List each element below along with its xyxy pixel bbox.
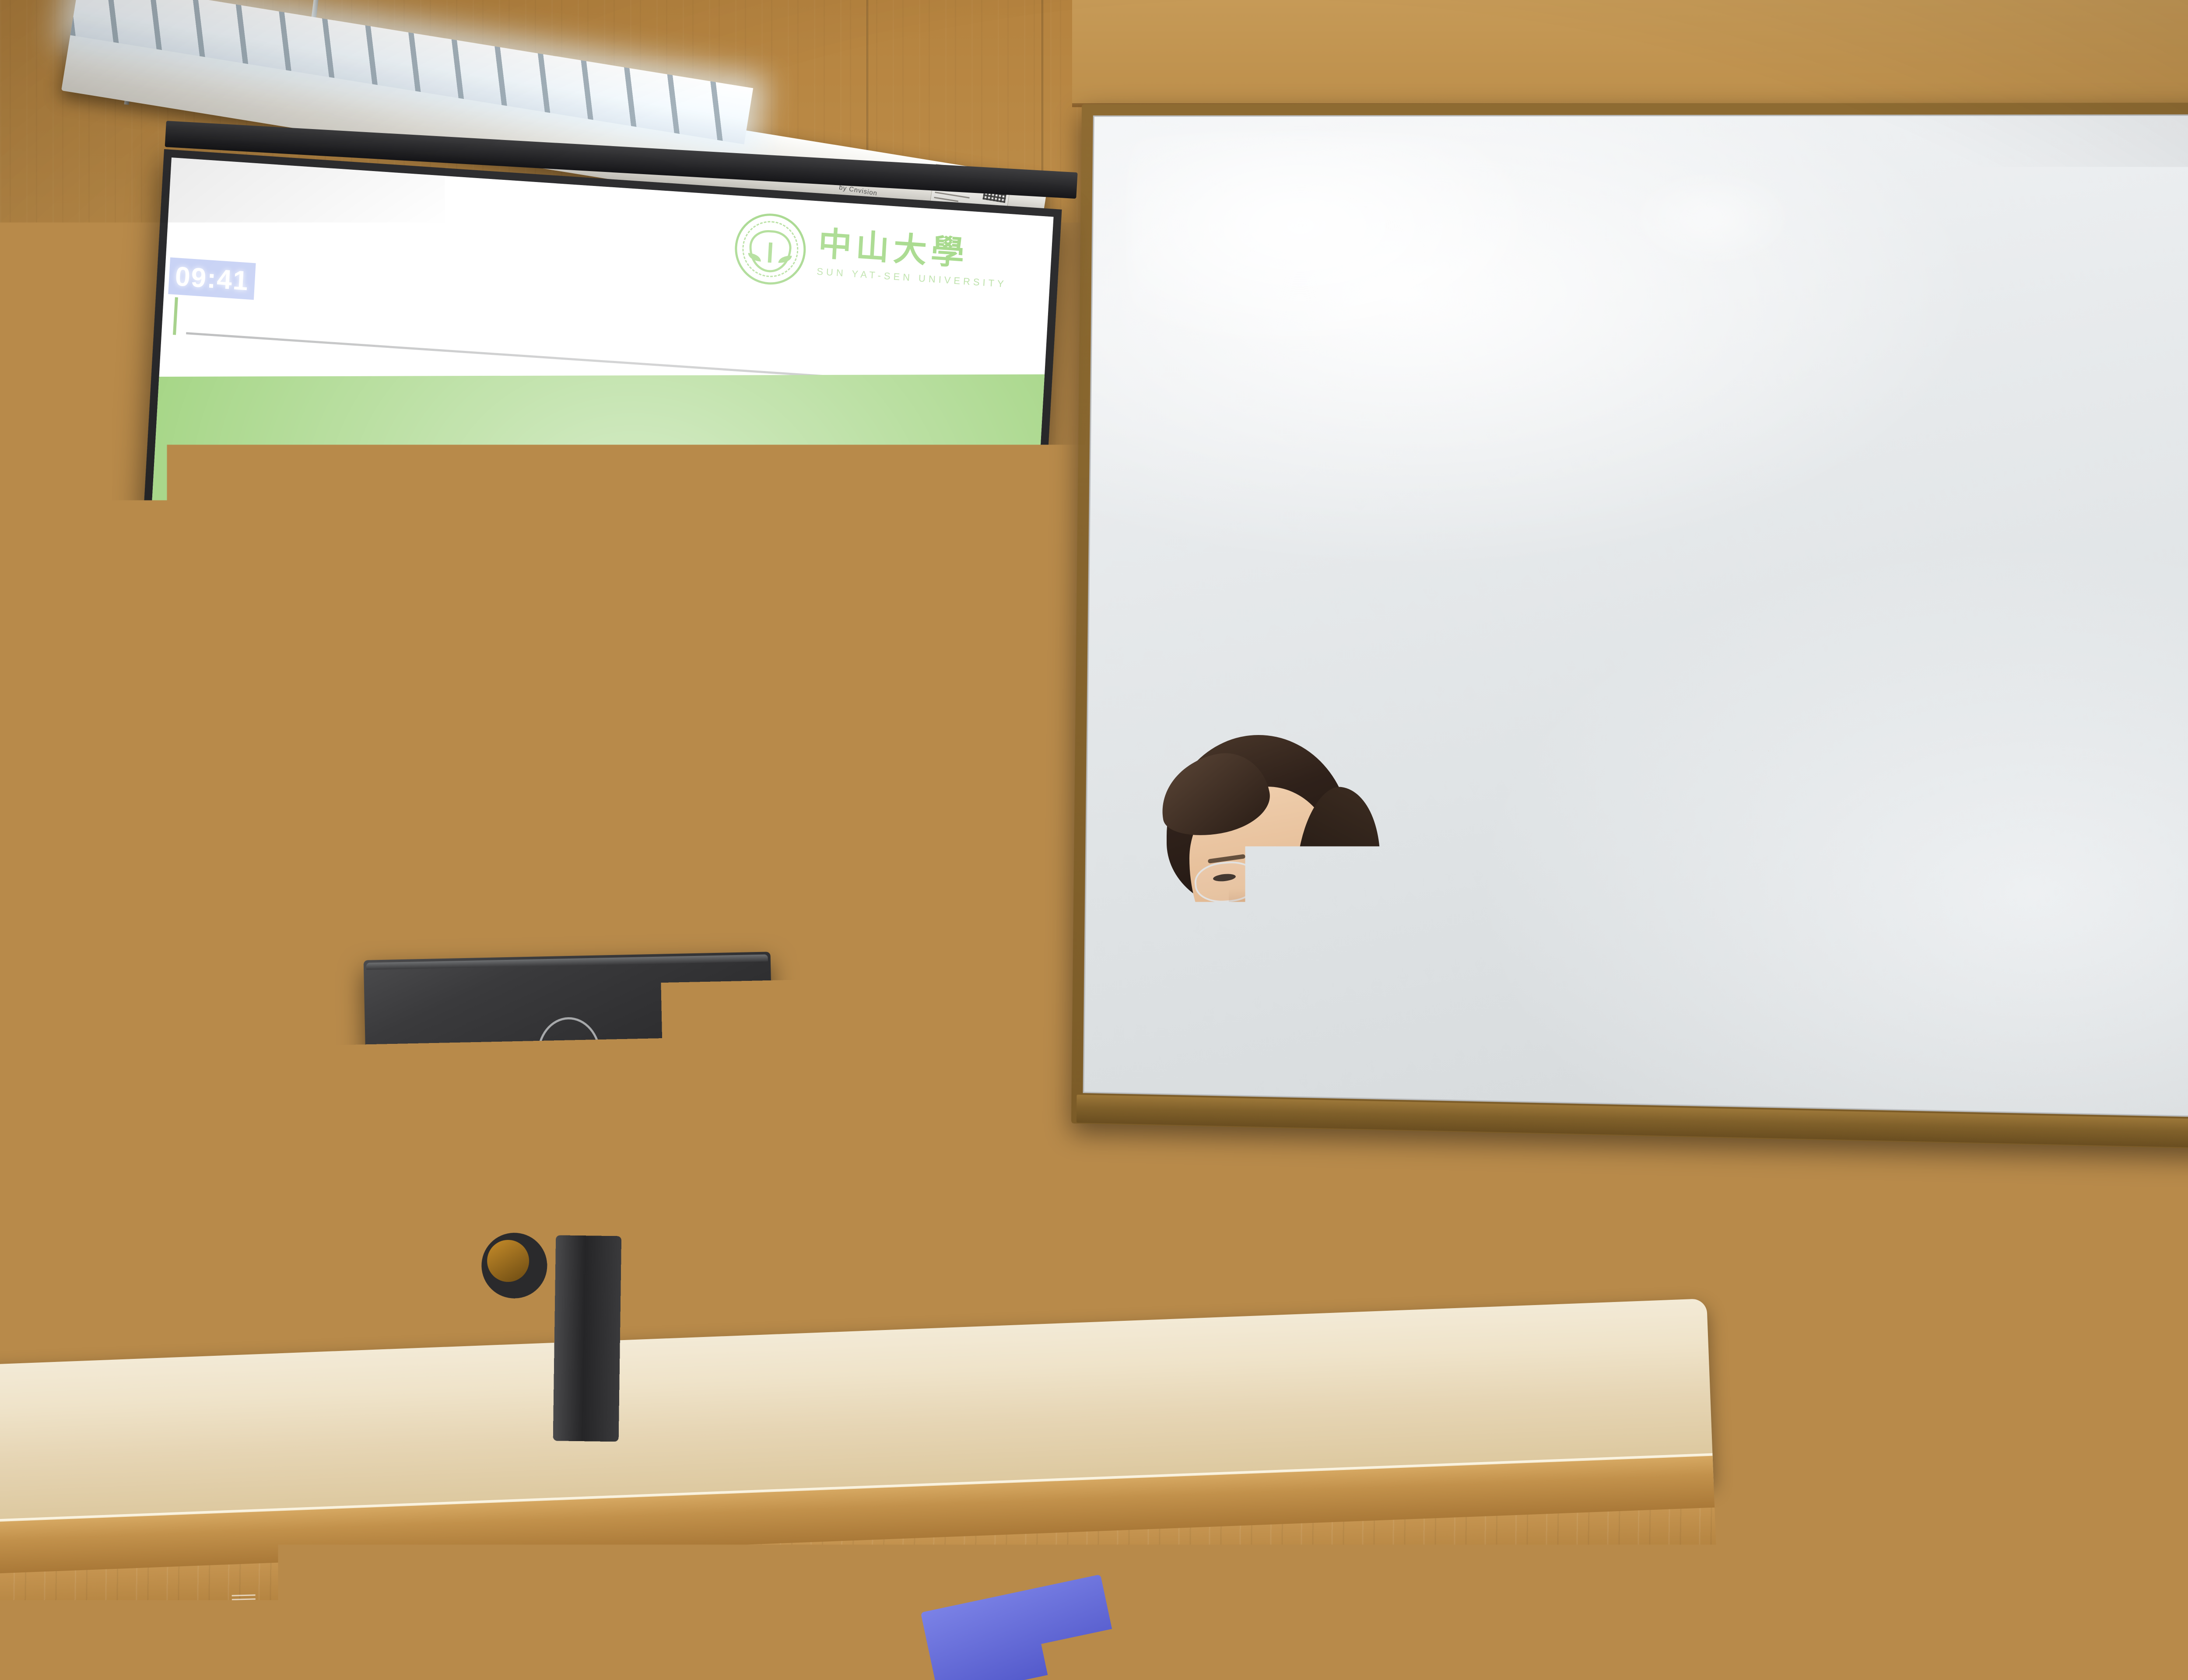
camera-brand-label: Polycom [1442,34,1464,39]
camera-status-led [1459,41,1464,47]
dell-logo-icon: DELL [536,1017,602,1095]
bottle-fine-print [232,1594,256,1634]
monitor-screen[interactable]: DELL [364,952,778,1292]
university-name-cn: 中山大學 [817,227,1010,273]
door-hinge-upper [0,691,18,706]
door-gap [18,612,30,1330]
door-hinge-lower [0,857,18,872]
folder-tab [1134,1612,1237,1644]
university-seal-icon [733,211,808,287]
presenter-nose [1229,889,1249,920]
slide-time-text: 09:41 [174,261,249,297]
slide-author: 朱惠莲 [338,679,454,729]
whiteboard-glare-secondary [1624,169,1796,267]
whiteboard-glare [1127,134,1563,364]
bottle-cap[interactable] [228,1209,282,1242]
slide-time-tick [173,297,178,335]
barcode-icon [228,1498,258,1526]
bottle-shoulder [213,1263,302,1348]
video-conference-camera[interactable]: Polycom [1348,0,1558,96]
university-logo: 中山大學 SUN YAT-SEN UNIVERSITY [733,211,1010,301]
bottle-label-upper [214,1342,305,1395]
slide-title: 产学研校企合作的一点思考 [253,453,967,537]
wall-upper-band [1072,0,2188,105]
lecture-room-scene: CNV by Cnvision Polycom [0,0,2188,1680]
dell-monitor[interactable]: DELL [364,952,779,1354]
glasses-bridge [1252,871,1266,873]
monitor-brand-text: DELL [537,1042,601,1070]
monitor-stand-notch [510,1256,637,1284]
microphone-body [1093,1014,1145,1187]
slide-time-badge: 09:41 [168,257,256,300]
